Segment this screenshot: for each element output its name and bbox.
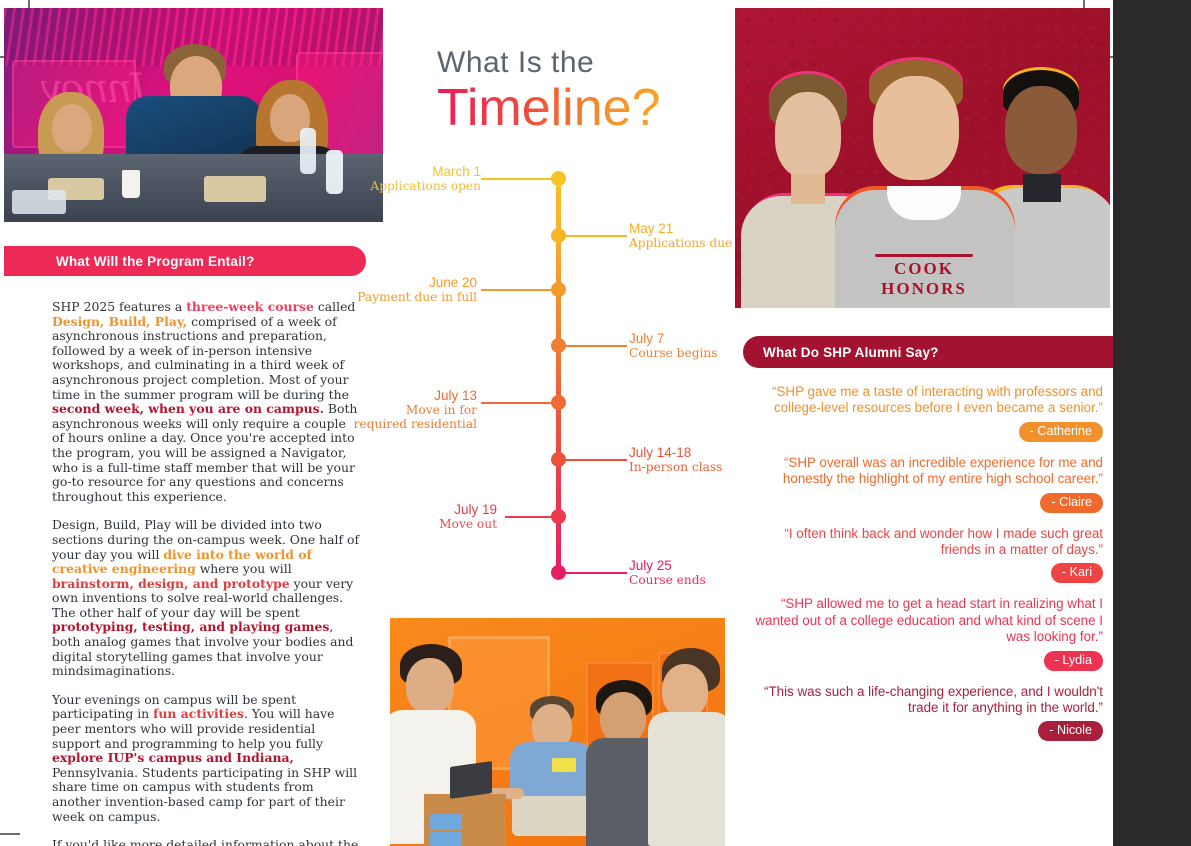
classroom-right-head <box>662 664 708 718</box>
testimonial-item: “I often think back and wonder how I mad… <box>743 526 1103 584</box>
paragraph-4: If you'd like more detailed information … <box>52 838 360 846</box>
timeline-label-2: June 20 Payment due in full <box>327 275 477 304</box>
timeline-dot-3 <box>551 338 566 353</box>
classroom-bin-1 <box>430 814 462 830</box>
testimonial-author-row: - Lydia <box>743 651 1103 671</box>
timeline-connector-6 <box>505 516 553 518</box>
header-program-entail-label: What Will the Program Entail? <box>56 254 254 269</box>
student-photo-person-center: COOK HONORS <box>841 60 1007 308</box>
timeline-dot-7 <box>551 565 566 580</box>
timeline-connector-3 <box>565 345 627 347</box>
timeline-date-2: June 20 <box>327 275 477 290</box>
highlight-second-week: second week, when you are on campus. <box>52 401 324 416</box>
timeline-label-0: March 1 Applications open <box>331 164 481 193</box>
classroom-right-hoodie <box>648 712 725 846</box>
timeline-connector-7 <box>565 572 627 574</box>
timeline-connector-2 <box>481 289 553 291</box>
program-description-body: SHP 2025 features a three-week course ca… <box>52 300 360 846</box>
testimonial-quote: “SHP overall was an incredible experienc… <box>743 455 1103 488</box>
parts-tray <box>12 190 66 214</box>
sweatshirt-logo-rule <box>875 254 973 257</box>
testimonial-author-badge: - Catherine <box>1019 422 1103 442</box>
workshop-photo: Innov <box>4 8 383 222</box>
testimonial-quote: “SHP gave me a taste of interacting with… <box>743 384 1103 417</box>
run-text: Pennsylvania. Students participating in … <box>52 765 357 824</box>
testimonial-list: “SHP gave me a taste of interacting with… <box>743 384 1103 754</box>
testimonial-author-badge: - Nicole <box>1038 721 1103 741</box>
project-board-1 <box>204 176 266 202</box>
header-alumni-say: What Do SHP Alumni Say? <box>743 336 1113 368</box>
testimonial-author-row: - Catherine <box>743 422 1103 442</box>
highlight-explore-iup: explore IUP's campus and Indiana, <box>52 750 294 765</box>
student-right-neck <box>1023 174 1061 202</box>
student-left-neck <box>791 174 825 204</box>
timeline-date-0: March 1 <box>331 164 481 179</box>
timeline-connector-4 <box>481 402 553 404</box>
coffee-cup <box>122 170 140 198</box>
header-alumni-say-label: What Do SHP Alumni Say? <box>763 345 939 360</box>
testimonial-quote: “SHP allowed me to get a head start in r… <box>743 596 1103 645</box>
header-program-entail: What Will the Program Entail? <box>4 246 366 276</box>
timeline-dot-5 <box>551 452 566 467</box>
brochure-page: Innov <box>0 0 1113 846</box>
middle-column: What Is the Timeline? March 1 Applicatio… <box>385 0 730 846</box>
timeline-dot-0 <box>551 171 566 186</box>
classroom-left-head <box>406 658 454 714</box>
timeline-label-4: July 13 Move in for required residential <box>319 388 477 431</box>
sweatshirt-logo-line1: COOK <box>869 260 979 277</box>
timeline-desc-6: Move out <box>347 517 497 531</box>
highlight-design-build-play: Design, Build, Play, <box>52 314 187 329</box>
timeline-connector-0 <box>481 178 553 180</box>
classroom-teacher-nametag <box>552 758 576 772</box>
timeline-desc-2: Payment due in full <box>327 290 477 304</box>
document-viewer: Innov <box>0 0 1191 846</box>
timeline-connector-5 <box>565 459 627 461</box>
run-text: Both asynchronous weeks will only requir… <box>52 401 357 504</box>
timeline-date-4: July 13 <box>319 388 477 403</box>
testimonial-item: “SHP overall was an incredible experienc… <box>743 455 1103 513</box>
testimonial-author-row: - Kari <box>743 563 1103 583</box>
classroom-bin-2 <box>430 832 462 846</box>
testimonial-quote: “I often think back and wonder how I mad… <box>743 526 1103 559</box>
classroom-laptop <box>450 761 492 799</box>
timeline-date-6: July 19 <box>347 502 497 517</box>
students-photo: COOK HONORS <box>735 8 1110 308</box>
highlight-fun-activities: fun activities <box>153 706 244 721</box>
timeline-desc-0: Applications open <box>331 179 481 193</box>
paragraph-1: SHP 2025 features a three-week course ca… <box>52 300 360 504</box>
testimonial-item: “This was such a life-changing experienc… <box>743 684 1103 742</box>
classroom-person-teacher <box>506 696 598 836</box>
testimonial-author-badge: - Lydia <box>1044 651 1103 671</box>
classroom-teacher-pants <box>512 796 596 836</box>
classroom-person-right <box>652 648 725 846</box>
sweatshirt-logo-line2: HONORS <box>863 280 985 297</box>
classroom-cr-head <box>600 692 646 744</box>
timeline-desc-4: Move in for required residential <box>319 403 477 431</box>
paragraph-3: Your evenings on campus will be spent pa… <box>52 693 360 824</box>
classroom-photo <box>390 618 725 846</box>
highlight-brainstorm-design-prototype: brainstorm, design, and prototype <box>52 576 290 591</box>
right-column: COOK HONORS What Do SHP Alumni Say? “SHP… <box>735 0 1113 846</box>
testimonial-author-badge: - Claire <box>1040 493 1103 513</box>
timeline-label-6: July 19 Move out <box>347 502 497 531</box>
testimonial-item: “SHP gave me a taste of interacting with… <box>743 384 1103 442</box>
highlight-three-week-course: three-week course <box>186 299 314 314</box>
timeline-dot-4 <box>551 395 566 410</box>
run-text: SHP 2025 features a <box>52 299 186 314</box>
paragraph-2: Design, Build, Play will be divided into… <box>52 518 360 679</box>
water-bottle-1 <box>300 128 316 174</box>
timeline-dot-2 <box>551 282 566 297</box>
student-center-head <box>873 76 959 180</box>
highlight-prototyping-testing-games: prototyping, testing, and playing games <box>52 619 329 634</box>
student-right-head <box>1005 86 1077 174</box>
testimonial-quote: “This was such a life-changing experienc… <box>743 684 1103 717</box>
timeline-dot-6 <box>551 509 566 524</box>
testimonial-author-row: - Nicole <box>743 721 1103 741</box>
run-text: where you will <box>196 561 292 576</box>
testimonial-author-row: - Claire <box>743 493 1103 513</box>
student-left-head <box>775 92 841 178</box>
run-text: If you'd like more detailed information … <box>52 837 358 846</box>
timeline-dot-1 <box>551 228 566 243</box>
timeline-connector-1 <box>565 235 627 237</box>
testimonial-author-badge: - Kari <box>1051 563 1103 583</box>
testimonial-item: “SHP allowed me to get a head start in r… <box>743 596 1103 670</box>
student-left-head <box>52 104 92 152</box>
